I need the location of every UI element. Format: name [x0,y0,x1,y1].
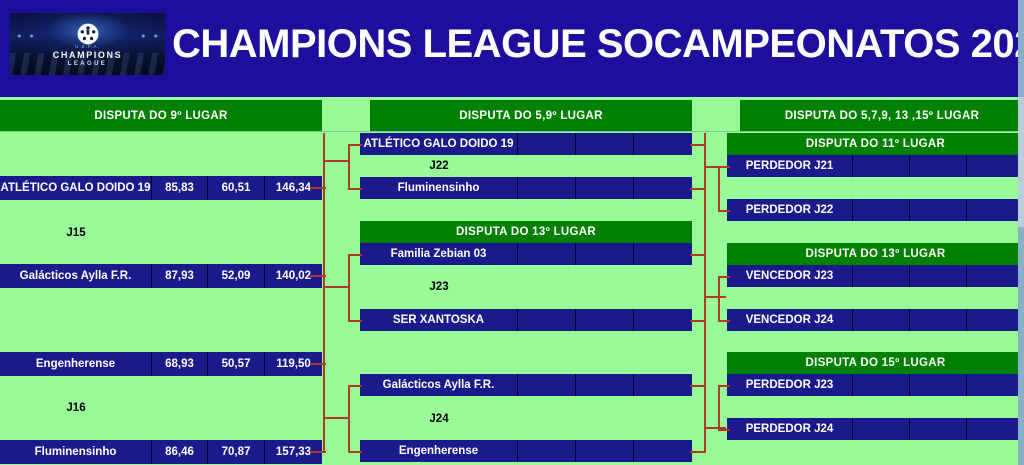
middle-section-header-13: DISPUTA DO 13º LUGAR [360,221,692,243]
score-2 [910,374,967,396]
bracket-line [348,385,350,451]
team-name: Fluminensinho [360,177,518,199]
score-2 [910,199,967,221]
score-1 [853,265,910,287]
bracket-line [704,133,706,453]
team-name: PERDEDOR J21 [727,155,853,177]
score-2 [576,374,634,396]
team-name: Fluminensinho [0,440,152,464]
middle-panel-header: DISPUTA DO 5,9º LUGAR [370,100,692,131]
table-row: PERDEDOR J24 [727,418,1024,440]
bracket-line [718,320,730,322]
score-total [634,243,692,265]
team-name: VENCEDOR J23 [727,265,853,287]
bracket-line [323,133,325,293]
score-total [634,309,692,331]
vertical-scrollbar-thumb[interactable] [1018,97,1024,227]
score-total [967,418,1024,440]
match-label-j15: J15 [0,222,152,244]
team-name: Galácticos Aylla F.R. [360,374,518,396]
bracket-line [310,363,326,365]
match-label-j16: J16 [0,397,152,419]
score-2 [576,309,634,331]
bracket-page: U.E.F.A. CHAMPIONS LEAGUE CHAMPIONS LEAG… [0,0,1024,465]
uefa-champions-league-logo: U.E.F.A. CHAMPIONS LEAGUE [10,13,165,75]
match-label-j24: J24 [360,408,518,430]
score-1 [518,177,576,199]
score-1: 87,93 [152,264,208,288]
table-row: Fluminensinho [360,177,692,199]
logo-sub-text: LEAGUE [10,61,165,67]
team-name: Galácticos Aylla F.R. [0,264,152,288]
table-row: SER XANTOSKA [360,309,692,331]
bracket-line [348,144,350,188]
bracket-line [348,144,362,146]
bracket-line [348,385,362,387]
score-1: 86,46 [152,440,208,464]
bracket-line [348,254,362,256]
bracket-line [310,187,326,189]
bracket-line [348,320,362,322]
bracket-line [718,429,730,431]
bracket-line [718,166,720,210]
bracket-line [348,188,362,190]
score-1 [518,374,576,396]
page-title: CHAMPIONS LEAGUE SOCAMPEONATOS 2020 [172,17,1024,72]
score-2 [910,265,967,287]
score-1: 85,83 [152,176,208,200]
score-2 [910,155,967,177]
bracket-line [310,451,326,453]
team-name: ATLÉTICO GALO DOIDO 19 [360,133,518,155]
score-2 [910,418,967,440]
bracket-line [323,293,325,453]
score-total [634,440,692,462]
team-name: Engenherense [360,440,518,462]
team-name: PERDEDOR J23 [727,374,853,396]
bracket-line [310,275,326,277]
score-1 [853,309,910,331]
table-row: ATLÉTICO GALO DOIDO 19 [360,133,692,155]
team-name: Familia Zebian 03 [360,243,518,265]
score-2: 52,09 [208,264,265,288]
score-total [634,374,692,396]
logo-uefa-tag: U.E.F.A. [10,44,165,49]
bracket-line [323,417,349,419]
table-row: VENCEDOR J23 [727,265,1024,287]
score-total [967,199,1024,221]
team-name: SER XANTOSKA [360,309,518,331]
score-1 [853,199,910,221]
table-row: PERDEDOR J21 [727,155,1024,177]
score-1 [518,309,576,331]
team-name: VENCEDOR J24 [727,309,853,331]
score-total [634,133,692,155]
left-panel-header: DISPUTA DO 9º LUGAR [0,100,322,131]
score-2 [576,243,634,265]
team-name: PERDEDOR J24 [727,418,853,440]
bracket-line [718,210,730,212]
table-row: Engenherense 68,93 50,57 119,50 [0,352,322,376]
score-2: 50,57 [208,352,265,376]
score-2 [576,133,634,155]
table-row: PERDEDOR J23 [727,374,1024,396]
right-section-header-13: DISPUTA DO 13º LUGAR [727,243,1024,265]
score-total [967,374,1024,396]
table-row: Galácticos Aylla F.R. 87,93 52,09 140,02 [0,264,322,288]
score-total [967,155,1024,177]
header-divider [0,131,1024,132]
score-1 [853,374,910,396]
bracket-line [704,296,726,298]
table-row: Familia Zebian 03 [360,243,692,265]
team-name: Engenherense [0,352,152,376]
score-2: 70,87 [208,440,265,464]
table-row: Fluminensinho 86,46 70,87 157,33 [0,440,322,464]
logo-main-text: CHAMPIONS [10,50,165,60]
score-total [967,265,1024,287]
bracket-line [323,160,349,162]
bracket-line [348,451,362,453]
score-2 [576,440,634,462]
table-row: Engenherense [360,440,692,462]
bracket-line [718,276,730,278]
match-label-j22: J22 [360,155,518,177]
bracket-line [718,385,730,387]
score-total [967,309,1024,331]
match-label-j23: J23 [360,276,518,298]
vertical-scrollbar-track[interactable] [1018,0,1024,465]
score-2 [576,177,634,199]
score-1: 68,93 [152,352,208,376]
table-row: Galácticos Aylla F.R. [360,374,692,396]
right-section-header-15: DISPUTA DO 15º LUGAR [727,352,1024,374]
right-section-header-11: DISPUTA DO 11º LUGAR [727,133,1024,155]
score-1 [518,243,576,265]
score-1 [518,133,576,155]
score-2: 60,51 [208,176,265,200]
team-name: ATLÉTICO GALO DOIDO 19 [0,176,152,200]
score-1 [853,155,910,177]
table-row: PERDEDOR J22 [727,199,1024,221]
bracket-line [348,254,350,320]
title-banner: U.E.F.A. CHAMPIONS LEAGUE CHAMPIONS LEAG… [0,0,1024,97]
score-total [634,177,692,199]
score-1 [518,440,576,462]
bracket-line [718,276,720,320]
bracket-line [323,286,349,288]
team-name: PERDEDOR J22 [727,199,853,221]
bracket-line [718,166,730,168]
score-2 [910,309,967,331]
right-panel-header: DISPUTA DO 5,7,9, 13 ,15º LUGAR [740,100,1024,131]
table-row: VENCEDOR J24 [727,309,1024,331]
score-1 [853,418,910,440]
bracket-line [718,385,720,429]
table-row: ATLÉTICO GALO DOIDO 19 85,83 60,51 146,3… [0,176,322,200]
